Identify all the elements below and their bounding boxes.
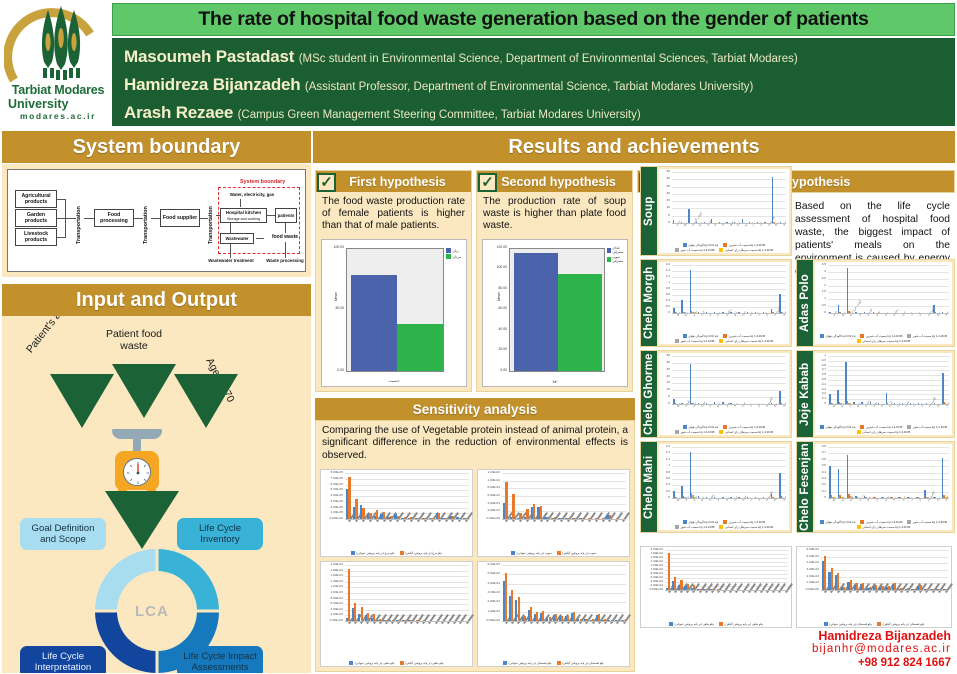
hypothesis-header: ✓ Second hypothesis [477, 171, 632, 192]
legend-label: چلو فسنجان (بر پایه پروتئین حیوانی) [829, 622, 872, 626]
chart-adas-polo-impact: 3.532.521.510.50عدسبرنجگوشت چرخ کردهپیاز… [815, 262, 952, 344]
legend-swatch [907, 334, 911, 338]
legend-label: چلو ماهی (بر پایه پروتئین حیوانی) [355, 661, 395, 665]
food-card-chelo-mahi: Chelo Mahi 1.61.41.210.80.60.40.20برنجما… [640, 441, 792, 533]
legend-label: غذای مصرفی [612, 246, 627, 254]
chart-chelo-mahi-impact: 1.61.41.210.80.60.40.20برنجماهیروغنلیموز… [659, 444, 789, 530]
legend-item: سوپ (بر پایه پروتئین گیاهی) [557, 551, 596, 555]
gridline [672, 201, 786, 202]
ytick: 0.4 [816, 471, 826, 474]
legend-label: سمیت آب شور kg 1,4-DCB [913, 425, 947, 429]
ytick: 100.00 [324, 245, 344, 249]
ytick: 25 [660, 368, 670, 371]
legend-item: آلودگی هوای kg CO2 eq [820, 425, 855, 429]
ytick: 0 [660, 311, 670, 314]
food-card-chelo-morgh: Chelo Morgh 1.61.41.210.80.60.40.20برنجم… [640, 259, 792, 347]
ytick: 1 [816, 297, 826, 300]
author-row: Arash Rezaee (Campus Green Management St… [124, 100, 955, 128]
gridline [821, 577, 948, 578]
flow-food-processing: Food processing [94, 209, 134, 227]
chart-joje-kabab-impact: 10.90.80.70.60.50.40.30.20.10برنجمرغپیاز… [815, 353, 952, 435]
ytick: 3 [816, 270, 826, 273]
ytick: 25 [660, 185, 670, 188]
legend-item: سمیت آب شیرین kg 1,4-DCB [860, 520, 902, 524]
legend-item: آلودگی هوای kg CO2 eq [683, 243, 718, 247]
ytick: 1.4 [660, 269, 670, 272]
chart-chelo-ghorme-impact: 35302520151050برنجگوشتلوبیاسبزیپیازلیمور… [659, 353, 789, 435]
legend-item: سمیت آب شیرین kg 1,4-DCB [723, 425, 765, 429]
ytick: 15 [660, 381, 670, 384]
ytick: 8.00E-03 [479, 486, 500, 489]
legend-swatch [683, 334, 687, 338]
ytick: 1.20E-03 [322, 585, 343, 588]
flow-connector [200, 218, 208, 219]
legend-label: سمیت آب شور kg 1,4-DCB [680, 430, 714, 434]
flow-wastewater-treatment: Wastewater treatment [204, 258, 258, 263]
system-boundary-banner: System boundary [2, 131, 311, 163]
gridline [502, 565, 626, 566]
flow-connector [65, 218, 76, 219]
chart-legend: چلو ماهی (بر پایه پروتئین حیوانی)چلو ماه… [323, 661, 470, 665]
bar [779, 473, 780, 498]
legend-swatch [719, 622, 723, 626]
gridline [665, 558, 788, 559]
ytick: 5.00E-03 [479, 572, 500, 575]
ytick: 1.60E-03 [322, 574, 343, 577]
bar-plate [558, 274, 602, 371]
author-affiliation: (MSc student in Environmental Science, D… [299, 53, 798, 65]
ytick: 2 [816, 284, 826, 287]
legend-item: سمیت سرطان زای انسانی kg 1,4-DCB [719, 430, 773, 434]
food-label-adas-polo: Adas Polo [797, 260, 813, 346]
legend-label: سمیت آب شور kg 1,4-DCB [913, 520, 947, 524]
legend-swatch [675, 430, 679, 434]
legend-item: آلودگی هوای kg CO2 eq [820, 520, 855, 524]
legend-label: سمیت سرطان زای انسانی kg 1,4-DCB [725, 248, 773, 252]
ytick: 0.00E+00 [798, 588, 819, 591]
bar [779, 294, 780, 313]
input-output-banner-label: Input and Output [76, 289, 237, 312]
chart-legend: آلودگی هوای kg CO2 eqسمیت آب شیرین kg 1,… [817, 520, 950, 529]
ytick: 5 [660, 395, 670, 398]
bar [505, 482, 507, 519]
contact-email[interactable]: bijanhr@modares.ac.ir [812, 643, 951, 657]
ytick: 0.2 [660, 490, 670, 493]
flow-connector [267, 215, 275, 216]
input-label-agreement: Patient's agreement [24, 316, 91, 355]
ytick: 0.00 [485, 368, 507, 372]
ytick: 0 [660, 496, 670, 499]
ytick: 0.6 [660, 293, 670, 296]
bar [942, 373, 943, 404]
ytick: 30 [660, 177, 670, 180]
ytick: 50.00 [324, 306, 344, 310]
flow-connector [57, 199, 65, 200]
ytick: 0.00E+00 [322, 619, 343, 622]
legend-item: سمیت آب شیرین kg 1,4-DCB [723, 243, 765, 247]
legend-swatch [860, 520, 864, 524]
ytick: 0.8 [660, 471, 670, 474]
input-triangle-age [174, 374, 238, 428]
flow-transport-1: Transportation [76, 194, 82, 244]
ytick: 30 [660, 361, 670, 364]
gridline [345, 593, 469, 594]
food-impact-charts: Soup 35302520151050سوپبرنجگوشت گوسفندمرغ… [640, 166, 955, 541]
legend-item: سمیت سرطان زای انسانی kg 1,4-DCB [719, 525, 773, 529]
legend-swatch [877, 622, 881, 626]
poster-title: The rate of hospital food waste generati… [112, 3, 955, 36]
logo-line-1: Tarbiat Modares [4, 84, 112, 97]
ytick: 20 [660, 192, 670, 195]
legend-item: سمیت سرطان زای انسانی kg 1,4-DCB [857, 339, 911, 343]
legend-swatch [820, 334, 824, 338]
legend-swatch [351, 551, 355, 555]
legend-label: سمیت سرطان زای انسانی kg 1,4-DCB [725, 525, 773, 529]
legend-label: سمیت آب شیرین kg 1,4-DCB [729, 520, 766, 524]
gridline [665, 566, 788, 567]
legend-swatch [683, 243, 687, 247]
input-triangle-agreement [50, 374, 114, 428]
ytick: 1 [660, 464, 670, 467]
legend-label: سمیت آب شور kg 1,4-DCB [680, 248, 714, 252]
legend-label: سمیت سرطان زای انسانی kg 1,4-DCB [725, 430, 773, 434]
ytick: 7.00E-05 [322, 477, 343, 480]
flow-connector [230, 244, 231, 258]
chart-sens-chelo-fesenjan: 6.00E-035.00E-034.00E-033.00E-032.00E-03… [477, 561, 630, 667]
legend-swatch [857, 525, 861, 529]
legend-swatch [511, 551, 515, 555]
ytick: 35 [660, 170, 670, 173]
university-logo: Tarbiat Modares University modares.ac.ir [4, 6, 112, 128]
xtick [945, 583, 953, 593]
ytick: 120.00 [485, 245, 507, 249]
ytick: 6.00E-03 [798, 548, 819, 551]
ytick: 0.4 [660, 299, 670, 302]
legend-label: سمیت آب شیرین kg 1,4-DCB [866, 334, 903, 338]
ytick: 5 [660, 214, 670, 217]
x-axis [345, 519, 469, 520]
gridline [672, 194, 786, 195]
food-label-chelo-ghorme: Chelo Ghorme [641, 351, 657, 437]
ytick: 40.00 [485, 327, 507, 331]
x-axis-label: نوع [483, 379, 627, 383]
input-triangle-food-waste [112, 364, 176, 418]
bar [824, 556, 826, 590]
legend-item: سمیت سرطان زای انسانی kg 1,4-DCB [719, 339, 773, 343]
ytick: 1.00E-03 [322, 591, 343, 594]
chart-sens-chelo-morgh: 8.00E-057.00E-056.00E-055.00E-054.00E-05… [320, 469, 473, 557]
ytick: 0 [816, 496, 826, 499]
hypothesis-card-first: ✓ First hypothesis The food waste produc… [315, 170, 472, 392]
chart-legend: سوپ (بر پایه پروتئین حیوانی)سوپ (بر پایه… [480, 551, 627, 555]
ytick: 1.00E-03 [798, 581, 819, 584]
flow-patients: patients [275, 208, 297, 223]
gridline [502, 504, 626, 505]
flow-connector [256, 238, 264, 239]
ytick: 2.00E-03 [479, 600, 500, 603]
legend-item: چلو ماهی (بر پایه پروتئین گیاهی) [719, 622, 763, 626]
legend-item: چلو مرغ (بر پایه پروتئین گیاهی) [400, 551, 443, 555]
check-icon: ✓ [317, 173, 336, 192]
ytick: 4.00E-03 [798, 561, 819, 564]
legend-item: سمیت آب شور kg 1,4-DCB [675, 339, 715, 343]
legend-label: آلودگی هوای kg CO2 eq [688, 520, 718, 524]
hypothesis-card-second: ✓ Second hypothesis The production rate … [476, 170, 633, 392]
ytick: 2.00E-03 [798, 575, 819, 578]
ytick: 1 [660, 281, 670, 284]
hypothesis-text: The food waste production rate of female… [316, 192, 471, 235]
legend-swatch [400, 661, 404, 665]
food-card-chelo-ghorme: Chelo Ghorme 35302520151050برنجگوشتلوبیا… [640, 350, 792, 438]
legend-label: آلودگی هوای kg CO2 eq [688, 425, 718, 429]
legend-swatch [719, 525, 723, 529]
chart-bottom-sens-left: 2.00E-031.80E-031.60E-031.40E-031.20E-03… [640, 546, 792, 628]
ytick: 4.00E-05 [322, 494, 343, 497]
author-row: Masoumeh Pastadast (MSc student in Envir… [124, 44, 955, 72]
ytick: 0.00E+00 [642, 588, 663, 591]
gridline [665, 578, 788, 579]
sensitivity-panel: Comparing the use of Vegetable protein i… [315, 420, 635, 672]
gridline [345, 496, 469, 497]
ytick: 8.00E-04 [322, 597, 343, 600]
gridline [345, 587, 469, 588]
legend-swatch [860, 425, 864, 429]
food-label-joje-kabab: Joje Kabab [797, 351, 813, 437]
system-boundary-banner-label: System boundary [73, 136, 241, 159]
ytick: 1.2 [660, 458, 670, 461]
author-affiliation: (Assistant Professor, Department of Envi… [305, 81, 753, 93]
legend-item: چلو ماهی (بر پایه پروتئین گیاهی) [400, 661, 444, 665]
chart-chelo-fesenjan-impact: 0.80.70.60.50.40.30.20.10برنجمرغگردورب ا… [815, 444, 952, 530]
chart-legend: زنان مردان [446, 248, 461, 260]
legend-label: آلودگی هوای kg CO2 eq [826, 334, 856, 338]
flow-connector [216, 215, 221, 216]
ytick: 2.5 [816, 277, 826, 280]
legend-swatch [723, 243, 727, 247]
input-output-banner: Input and Output [2, 284, 311, 316]
hypothesis-text: The production rate of soup waste is hig… [477, 192, 632, 235]
legend-label: سمیت سرطان زای انسانی kg 1,4-DCB [725, 339, 773, 343]
ytick: 1.4 [660, 451, 670, 454]
chart-soup-impact: 35302520151050سوپبرنجگوشت گوسفندمرغسبزیپ… [659, 169, 789, 253]
sensitivity-banner: Sensitivity analysis [315, 398, 635, 420]
legend-swatch [723, 334, 727, 338]
ytick: 2.00E-03 [479, 509, 500, 512]
logo-line-2: University [4, 97, 112, 111]
flow-hospital-kitchen: Hospital kitchen Storage and cooking [220, 208, 267, 223]
gridline [828, 356, 949, 357]
flow-input-livestock: Livestock products [15, 228, 57, 246]
legend-item: سمیت آب شور kg 1,4-DCB [907, 425, 947, 429]
flow-food-waste: food waste [263, 234, 307, 240]
flow-connector [84, 218, 94, 219]
bar [779, 391, 780, 404]
ytick: 0.1 [816, 490, 826, 493]
sensitivity-banner-label: Sensitivity analysis [413, 402, 538, 417]
gridline [828, 265, 949, 266]
legend-swatch [675, 525, 679, 529]
legend-swatch [907, 425, 911, 429]
ytick: 0.8 [660, 287, 670, 290]
flow-connector [285, 242, 286, 258]
bar [838, 469, 840, 498]
bar-men [397, 324, 443, 371]
x-axis [672, 404, 786, 405]
chart-hypothesis1-gender-bar: 100.00 50.00 0.00 Mean جنسیت زنان مردان [321, 239, 467, 387]
food-card-chelo-fesenjan: Chelo Fesenjan 0.80.70.60.50.40.30.20.10… [796, 441, 955, 533]
legend-label: چلو فسنجان (بر پایه پروتئین گیاهی) [883, 622, 925, 626]
legend-item: سمیت آب شیرین kg 1,4-DCB [860, 334, 902, 338]
food-card-soup: Soup 35302520151050سوپبرنجگوشت گوسفندمرغ… [640, 166, 792, 256]
legend-item: سمیت آب شیرین kg 1,4-DCB [860, 425, 902, 429]
legend-label: چلو فسنجان (بر پایه پروتئین حیوانی) [509, 661, 552, 665]
gridline [665, 562, 788, 563]
gridline [672, 187, 786, 188]
gridline [821, 557, 948, 558]
flow-transport-3: Transportation [208, 194, 214, 244]
ytick: 6.00E-04 [322, 602, 343, 605]
flow-connector [240, 199, 241, 207]
ytick: 0.00E+00 [322, 517, 343, 520]
ytick: 100.00 [485, 265, 507, 269]
results-banner: Results and achievements [313, 131, 955, 163]
legend-label: سمیت آب شیرین kg 1,4-DCB [866, 425, 903, 429]
chart-sens-soup: 1.20E-021.00E-028.00E-036.00E-034.00E-03… [477, 469, 630, 557]
legend-swatch [607, 257, 611, 262]
system-boundary-diagram-title: System boundary [240, 179, 285, 185]
kitchen-sublabel: Storage and cooking [227, 216, 260, 222]
hypothesis-header: ✓ First hypothesis [316, 171, 471, 192]
poster-title-text: The rate of hospital food waste generati… [198, 8, 868, 31]
ytick: 0 [660, 221, 670, 224]
legend-swatch [675, 248, 679, 252]
legend-swatch [683, 425, 687, 429]
ytick: 5.00E-03 [798, 555, 819, 558]
ytick: 10 [660, 388, 670, 391]
gridline [345, 502, 469, 503]
ytick: 10 [660, 206, 670, 209]
ytick: 0.00E+00 [479, 619, 500, 622]
legend-label: زنان [453, 249, 459, 253]
ytick: 1.00E-02 [479, 479, 500, 482]
gridline [345, 485, 469, 486]
flow-input-agricultural: Agricultural products [15, 190, 57, 208]
flow-resources: Water, electricity, gas [222, 192, 282, 197]
hypothesis-title: Second hypothesis [497, 175, 632, 189]
chart-legend: آلودگی هوای kg CO2 eqسمیت آب شیرین kg 1,… [661, 425, 787, 434]
legend-item: چلو مرغ (بر پایه پروتئین حیوانی) [351, 551, 395, 555]
food-label-chelo-fesenjan: Chelo Fesenjan [797, 442, 813, 532]
legend-swatch [857, 339, 861, 343]
ytick: 4.00E-04 [322, 608, 343, 611]
ytick: 0.5 [816, 464, 826, 467]
bar [829, 466, 831, 498]
legend-swatch [719, 430, 723, 434]
legend-swatch [723, 425, 727, 429]
gridline [665, 574, 788, 575]
legend-label: سمیت آب شور kg 1,4-DCB [680, 339, 714, 343]
ytick: 0.6 [816, 458, 826, 461]
ytick: 1.2 [660, 275, 670, 278]
bar [845, 362, 846, 404]
gridline [672, 265, 786, 266]
gridline [345, 571, 469, 572]
lca-stage-goal-definition: Goal Definition and Scope [20, 518, 106, 550]
legend-label: سمیت سرطان زای انسانی kg 1,4-DCB [862, 339, 910, 343]
chart-chelo-morgh-impact: 1.61.41.210.80.60.40.20برنجمرغروغنگوجهپی… [659, 262, 789, 344]
gridline [665, 550, 788, 551]
x-axis [828, 404, 949, 405]
x-axis [345, 621, 469, 622]
legend-label: سمیت سرطان زای انسانی kg 1,4-DCB [862, 430, 910, 434]
legend-item: سمیت سرطان زای انسانی kg 1,4-DCB [719, 248, 773, 252]
ytick: 0 [660, 402, 670, 405]
contact-name: Hamidreza Bijanzadeh [812, 630, 951, 644]
author-affiliation: (Campus Green Management Steering Commit… [238, 109, 641, 121]
poster-header: Tarbiat Modares University modares.ac.ir… [0, 0, 957, 128]
gridline [345, 610, 469, 611]
gridline [672, 356, 786, 357]
bar [505, 573, 507, 621]
chart-legend: چلو فسنجان (بر پایه پروتئین حیوانی)چلو ف… [799, 622, 949, 626]
check-icon: ✓ [478, 173, 497, 192]
ytick: 8.00E-05 [322, 471, 343, 474]
logo-url: modares.ac.ir [4, 111, 112, 122]
x-axis [828, 313, 949, 314]
contact-block: Hamidreza Bijanzadeh bijanhr@modares.ac.… [812, 630, 951, 671]
legend-item: سمیت آب شیرین kg 1,4-DCB [723, 334, 765, 338]
flow-connector [57, 237, 65, 238]
chart-bottom-sens-right: 6.00E-035.00E-034.00E-033.00E-032.00E-03… [796, 546, 952, 628]
author-name: Arash Rezaee [124, 103, 233, 122]
y-axis-label: Mean [334, 292, 338, 301]
legend-label: سمیت سرطان زای انسانی kg 1,4-DCB [862, 525, 910, 529]
flow-connector [151, 218, 160, 219]
gridline [672, 447, 786, 448]
legend-label: آلودگی هوای kg CO2 eq [688, 334, 718, 338]
x-axis [821, 590, 948, 591]
ytick: 35 [660, 354, 670, 357]
ytick: 20 [660, 375, 670, 378]
legend-item: سوپ (بر پایه پروتئین حیوانی) [511, 551, 551, 555]
legend-label: مردان [453, 255, 462, 259]
legend-item: چلو فسنجان (بر پایه پروتئین گیاهی) [877, 622, 924, 626]
x-axis [665, 590, 788, 591]
ytick: 0.4 [660, 483, 670, 486]
input-output-panel: Patient's agreement Patient food waste A… [2, 316, 311, 673]
legend-item: سمیت آب شیرین kg 1,4-DCB [723, 520, 765, 524]
scale-dial-icon [123, 458, 151, 486]
ytick: 0.9 [816, 359, 826, 362]
ytick: 15 [660, 199, 670, 202]
x-axis [672, 223, 786, 224]
legend-swatch [349, 661, 353, 665]
ytick: 4.00E-03 [479, 502, 500, 505]
chart-hypothesis2-soup-vs-plate-bar: 120.00 100.00 80.00 60.00 40.00 20.00 0.… [482, 239, 628, 387]
food-label-chelo-mahi: Chelo Mahi [641, 442, 657, 532]
gridline [672, 172, 786, 173]
legend-swatch [400, 551, 404, 555]
legend-label: چلو مرغ (بر پایه پروتئین حیوانی) [356, 551, 394, 555]
gridline [672, 179, 786, 180]
gridline [345, 604, 469, 605]
flow-connector [285, 223, 286, 233]
ytick: 1.6 [660, 263, 670, 266]
plot-area [509, 248, 605, 372]
xtick [623, 614, 631, 624]
ytick: 1.00E-05 [322, 511, 343, 514]
sensitivity-text: Comparing the use of Vegetable protein i… [316, 421, 634, 465]
